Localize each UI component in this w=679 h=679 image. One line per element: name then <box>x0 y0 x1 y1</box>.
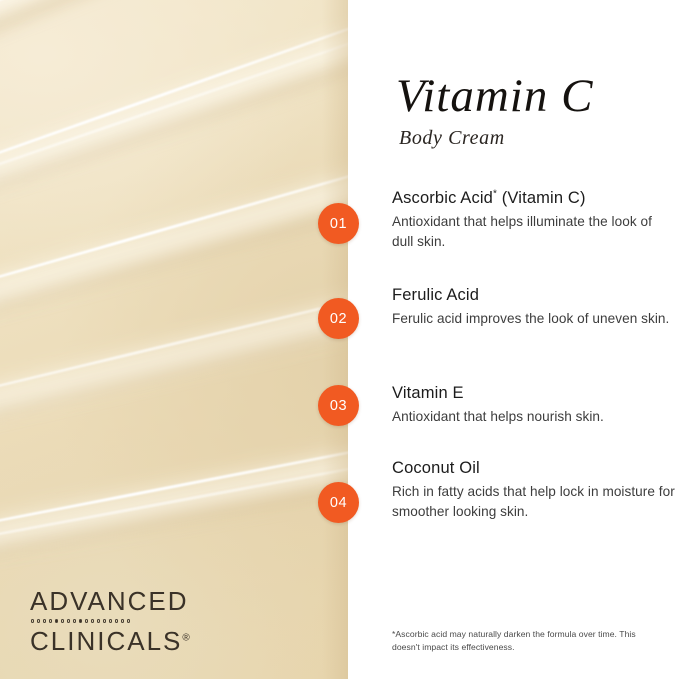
logo-dot <box>49 619 52 622</box>
logo-dot <box>61 619 64 622</box>
ingredient-item: Ferulic AcidFerulic acid improves the lo… <box>392 285 677 329</box>
title-block: Vitamin C Body Cream <box>396 72 676 150</box>
ingredient-description: Rich in fatty acids that help lock in mo… <box>392 482 677 522</box>
ingredient-item: Ascorbic Acid* (Vitamin C)Antioxidant th… <box>392 188 677 252</box>
ingredient-title: Coconut Oil <box>392 458 677 479</box>
registered-trademark-icon: ® <box>182 632 189 643</box>
page-title: Vitamin C <box>396 72 676 121</box>
logo-clinicals-word: CLINICALS <box>30 626 182 656</box>
logo-dot <box>79 619 82 622</box>
ingredient-description: Ferulic acid improves the look of uneven… <box>392 309 677 329</box>
info-panel: Vitamin C Body Cream Ascorbic Acid* (Vit… <box>348 0 679 679</box>
logo-dot <box>127 619 130 622</box>
logo-dot <box>73 619 76 622</box>
product-subtitle: Body Cream <box>399 127 676 150</box>
logo-dot <box>85 619 88 622</box>
footnote-text: *Ascorbic acid may naturally darken the … <box>392 628 660 655</box>
photo-edge-gradient <box>322 0 348 679</box>
logo-dot <box>121 619 124 622</box>
ingredient-item: Coconut OilRich in fatty acids that help… <box>392 458 677 522</box>
logo-dot-divider <box>31 616 195 626</box>
logo-dot <box>31 619 34 622</box>
logo-dot <box>115 619 118 622</box>
ingredient-title: Ferulic Acid <box>392 285 677 306</box>
footnote-marker: * <box>493 189 497 200</box>
product-infographic: ADVANCED CLINICALS® Vitamin C Body Cream… <box>0 0 679 679</box>
logo-dot <box>43 619 46 622</box>
ingredient-description: Antioxidant that helps nourish skin. <box>392 407 677 427</box>
logo-dot <box>37 619 40 622</box>
logo-dot <box>91 619 94 622</box>
logo-dot <box>97 619 100 622</box>
ingredient-description: Antioxidant that helps illuminate the lo… <box>392 212 677 252</box>
ingredient-title: Ascorbic Acid* (Vitamin C) <box>392 188 677 209</box>
step-number-badge: 01 <box>318 203 359 244</box>
ingredient-title: Vitamin E <box>392 383 677 404</box>
product-texture-photo: ADVANCED CLINICALS® <box>0 0 348 679</box>
logo-dot <box>67 619 70 622</box>
ingredient-item: Vitamin EAntioxidant that helps nourish … <box>392 383 677 427</box>
step-number-badge: 04 <box>318 482 359 523</box>
logo-text-clinicals: CLINICALS® <box>30 628 195 654</box>
logo-dot <box>55 619 58 622</box>
brand-logo: ADVANCED CLINICALS® <box>30 588 195 654</box>
step-number-badge: 02 <box>318 298 359 339</box>
logo-text-advanced: ADVANCED <box>30 588 195 614</box>
logo-dot <box>103 619 106 622</box>
logo-dot <box>109 619 112 622</box>
step-number-badge: 03 <box>318 385 359 426</box>
